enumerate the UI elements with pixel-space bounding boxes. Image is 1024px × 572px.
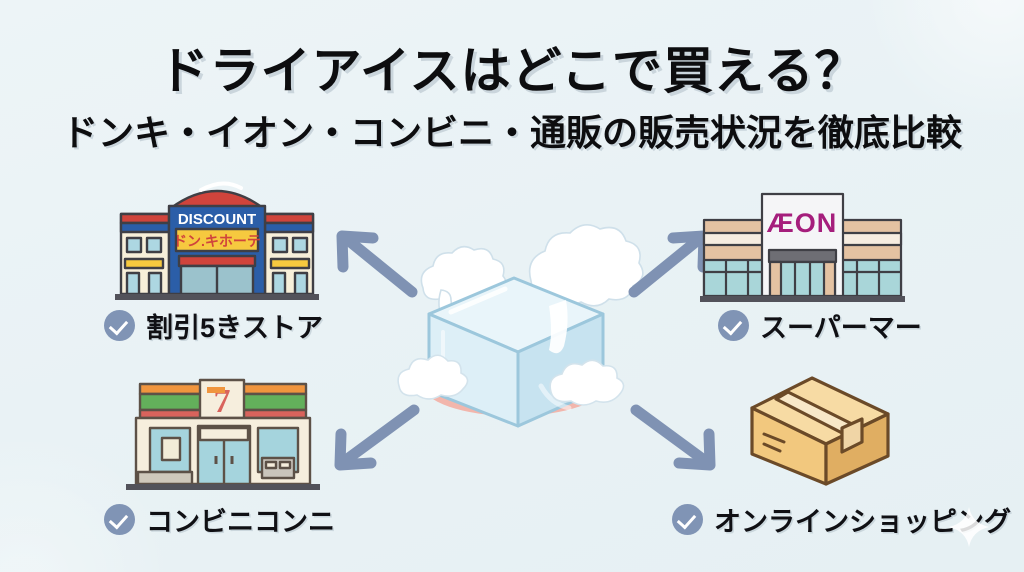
- check-circle-icon: [718, 310, 749, 341]
- discount-store-icon: DISCOUNT ドン.キホーテ: [113, 180, 321, 302]
- check-circle-icon: [104, 310, 135, 341]
- label-supermarket: スーパーマー: [718, 306, 922, 345]
- convenience-store-icon: 7: [122, 372, 324, 492]
- infographic-canvas: ドライアイスはどこで買える？ ドンキ・イオン・コンビニ・通販の販売状況を徹底比較: [0, 0, 1024, 572]
- donki-sign-text: ドン.キホーテ: [173, 233, 261, 249]
- arrow-to-convenience: [322, 396, 432, 478]
- supermarket-icon: ÆON: [700, 188, 905, 303]
- sparkle-icon: [948, 506, 990, 548]
- check-circle-icon: [672, 504, 703, 535]
- label-text: コンビニコンニ: [146, 500, 335, 539]
- page-subtitle: ドンキ・イオン・コンビニ・通販の販売状況を徹底比較: [0, 104, 1024, 156]
- label-text: 割引5きストア: [146, 306, 323, 345]
- arrow-to-online: [618, 396, 728, 478]
- page-title: ドライアイスはどこで買える？: [0, 31, 1024, 103]
- label-discount-store: 割引5きストア: [104, 306, 323, 345]
- aeon-logo-text: ÆON: [767, 208, 838, 238]
- shipping-box-icon: [744, 374, 896, 489]
- donki-banner-text: DISCOUNT: [178, 211, 256, 228]
- check-circle-icon: [104, 504, 135, 535]
- label-convenience-store: コンビニコンニ: [104, 500, 335, 539]
- dry-ice-block-icon: [381, 186, 647, 426]
- label-text: スーパーマー: [760, 306, 922, 345]
- arrow-to-donki: [326, 224, 426, 306]
